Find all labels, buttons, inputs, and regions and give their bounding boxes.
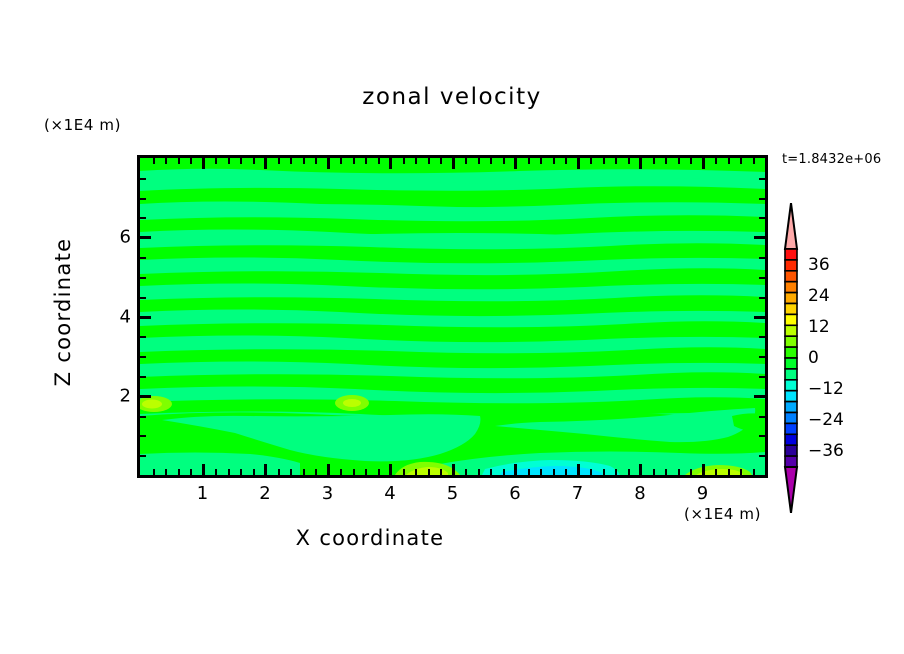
y-axis-tick-labels: 246 bbox=[95, 155, 131, 478]
axis-tick bbox=[327, 158, 330, 169]
axis-tick bbox=[465, 469, 467, 475]
colorbar-band bbox=[785, 456, 797, 467]
axis-tick bbox=[253, 469, 255, 475]
x-tick-label: 9 bbox=[697, 483, 708, 504]
colorbar-tick-label: −24 bbox=[808, 410, 844, 430]
axis-tick bbox=[215, 158, 217, 164]
x-tick-label: 7 bbox=[572, 483, 583, 504]
axis-tick bbox=[759, 376, 765, 378]
axis-tick bbox=[303, 469, 305, 475]
colorbar-band bbox=[785, 369, 797, 380]
axis-tick bbox=[759, 416, 765, 418]
axis-tick bbox=[759, 198, 765, 200]
y-tick-label: 2 bbox=[120, 385, 131, 406]
colorbar-band bbox=[785, 314, 797, 325]
colorbar-band bbox=[785, 391, 797, 402]
axis-tick bbox=[315, 469, 317, 475]
axis-tick bbox=[327, 464, 330, 475]
colorbar-band bbox=[785, 336, 797, 347]
axis-tick bbox=[415, 158, 417, 164]
colorbar-tick-label: 36 bbox=[808, 255, 830, 275]
axis-tick bbox=[140, 356, 146, 358]
axis-tick bbox=[740, 158, 742, 164]
axis-tick bbox=[639, 464, 642, 475]
colorbar-tick-label: 0 bbox=[808, 348, 819, 368]
axis-tick bbox=[603, 158, 605, 164]
axis-tick bbox=[290, 469, 292, 475]
axis-tick bbox=[278, 469, 280, 475]
axis-tick bbox=[490, 469, 492, 475]
axis-tick bbox=[702, 158, 705, 169]
axis-tick bbox=[514, 158, 517, 169]
axis-tick bbox=[759, 356, 765, 358]
y-tick-label: 6 bbox=[120, 227, 131, 248]
colorbar-band bbox=[785, 434, 797, 445]
axis-tick bbox=[240, 158, 242, 164]
colorbar-band bbox=[785, 325, 797, 336]
axis-tick bbox=[228, 158, 230, 164]
x-tick-label: 6 bbox=[509, 483, 520, 504]
axis-tick bbox=[240, 469, 242, 475]
x-tick-label: 3 bbox=[322, 483, 333, 504]
colorbar-tick-label: −12 bbox=[808, 379, 844, 399]
axis-tick bbox=[628, 469, 630, 475]
axis-tick bbox=[478, 469, 480, 475]
axis-tick bbox=[503, 158, 505, 164]
colorbar-tick-labels: 3624120−12−24−36 bbox=[808, 203, 868, 513]
axis-tick bbox=[528, 158, 530, 164]
plot-frame bbox=[137, 155, 768, 478]
axis-tick bbox=[290, 158, 292, 164]
colorbar bbox=[778, 203, 804, 513]
axis-tick bbox=[715, 469, 717, 475]
axis-tick bbox=[315, 158, 317, 164]
y-tick-label: 4 bbox=[120, 306, 131, 327]
axis-tick bbox=[553, 158, 555, 164]
axis-tick bbox=[615, 469, 617, 475]
x-axis-title: X coordinate bbox=[0, 526, 740, 550]
axis-tick bbox=[140, 257, 146, 259]
colorbar-band bbox=[785, 445, 797, 456]
axis-tick bbox=[140, 455, 146, 457]
axis-tick bbox=[577, 158, 580, 169]
y-axis-title: Z coordinate bbox=[51, 212, 75, 412]
x-tick-label: 1 bbox=[197, 483, 208, 504]
x-tick-label: 2 bbox=[259, 483, 270, 504]
timestamp-label: t=1.8432e+06 bbox=[782, 152, 881, 167]
axis-tick bbox=[140, 236, 151, 239]
axis-tick bbox=[628, 158, 630, 164]
colorbar-band bbox=[785, 271, 797, 282]
axis-tick bbox=[403, 469, 405, 475]
axis-tick bbox=[140, 217, 146, 219]
axis-tick bbox=[702, 464, 705, 475]
axis-tick bbox=[365, 469, 367, 475]
axis-tick bbox=[565, 158, 567, 164]
axis-tick bbox=[690, 158, 692, 164]
axis-tick bbox=[440, 158, 442, 164]
axis-tick bbox=[140, 297, 146, 299]
axis-tick bbox=[378, 158, 380, 164]
x-axis-units-label: (×1E4 m) bbox=[684, 505, 761, 523]
axis-tick bbox=[202, 158, 205, 169]
axis-tick bbox=[165, 158, 167, 164]
axis-tick bbox=[678, 158, 680, 164]
axis-tick bbox=[389, 464, 392, 475]
axis-tick bbox=[690, 469, 692, 475]
axis-tick bbox=[754, 236, 765, 239]
axis-tick bbox=[140, 316, 151, 319]
axis-tick bbox=[303, 158, 305, 164]
colorbar-band bbox=[785, 402, 797, 413]
axis-tick bbox=[503, 469, 505, 475]
axis-tick bbox=[140, 178, 146, 180]
axis-tick bbox=[653, 469, 655, 475]
axis-tick bbox=[577, 464, 580, 475]
colorbar-band bbox=[785, 423, 797, 434]
colorbar-band bbox=[785, 304, 797, 315]
axis-tick bbox=[365, 158, 367, 164]
axis-tick bbox=[590, 469, 592, 475]
colorbar-tick-label: 12 bbox=[808, 317, 830, 337]
colorbar-band bbox=[785, 380, 797, 391]
axis-tick bbox=[428, 469, 430, 475]
axis-tick bbox=[759, 257, 765, 259]
axis-tick bbox=[440, 469, 442, 475]
colorbar-band bbox=[785, 358, 797, 369]
axis-tick bbox=[264, 158, 267, 169]
axis-tick bbox=[415, 469, 417, 475]
colorbar-band bbox=[785, 413, 797, 424]
axis-tick bbox=[678, 469, 680, 475]
axis-tick bbox=[665, 469, 667, 475]
figure-root: zonal velocity (×1E4 m) t=1.8432e+06 bbox=[0, 0, 904, 654]
page-title: zonal velocity bbox=[0, 84, 904, 110]
colorbar-band bbox=[785, 249, 797, 260]
x-tick-label: 4 bbox=[384, 483, 395, 504]
axis-tick bbox=[153, 469, 155, 475]
axis-tick bbox=[140, 435, 146, 437]
axis-tick bbox=[253, 158, 255, 164]
axis-tick bbox=[278, 158, 280, 164]
axis-tick bbox=[140, 198, 146, 200]
axis-tick bbox=[140, 277, 146, 279]
axis-tick bbox=[603, 469, 605, 475]
axis-tick bbox=[140, 416, 146, 418]
axis-tick bbox=[759, 217, 765, 219]
axis-tick bbox=[528, 469, 530, 475]
axis-tick bbox=[754, 395, 765, 398]
x-axis-tick-labels: 123456789 bbox=[137, 483, 768, 507]
x-tick-label: 5 bbox=[447, 483, 458, 504]
axis-tick bbox=[153, 158, 155, 164]
axis-tick bbox=[728, 158, 730, 164]
axis-tick bbox=[753, 158, 755, 164]
axis-tick bbox=[728, 469, 730, 475]
axis-tick bbox=[754, 316, 765, 319]
colorbar-band bbox=[785, 282, 797, 293]
axis-tick bbox=[378, 469, 380, 475]
axis-tick bbox=[202, 464, 205, 475]
axis-tick bbox=[340, 469, 342, 475]
axis-tick bbox=[264, 464, 267, 475]
colorbar-under-arrow bbox=[785, 467, 797, 513]
axis-tick bbox=[140, 376, 146, 378]
axis-tick bbox=[340, 158, 342, 164]
axis-tick bbox=[740, 469, 742, 475]
axis-tick bbox=[190, 158, 192, 164]
axis-tick bbox=[759, 455, 765, 457]
colorbar-over-arrow bbox=[785, 203, 797, 249]
axis-tick bbox=[452, 158, 455, 169]
axis-tick bbox=[759, 435, 765, 437]
colorbar-band bbox=[785, 347, 797, 358]
axis-tick bbox=[178, 158, 180, 164]
axis-tick bbox=[565, 469, 567, 475]
axis-tick bbox=[140, 395, 151, 398]
axis-tick bbox=[190, 469, 192, 475]
axis-tick bbox=[215, 469, 217, 475]
axis-tick bbox=[615, 158, 617, 164]
axis-tick bbox=[452, 464, 455, 475]
y-axis-units-label: (×1E4 m) bbox=[44, 116, 121, 134]
axis-tick bbox=[490, 158, 492, 164]
axis-tick bbox=[759, 297, 765, 299]
axis-tick bbox=[540, 158, 542, 164]
axis-tick bbox=[553, 469, 555, 475]
axis-tick bbox=[140, 336, 146, 338]
axis-tick bbox=[478, 158, 480, 164]
axis-tick bbox=[759, 336, 765, 338]
axis-tick bbox=[639, 158, 642, 169]
axis-tick bbox=[759, 178, 765, 180]
axis-tick bbox=[665, 158, 667, 164]
colorbar-svg bbox=[778, 203, 804, 513]
axis-tick bbox=[353, 158, 355, 164]
axis-tick bbox=[753, 469, 755, 475]
axis-tick bbox=[353, 469, 355, 475]
axis-tick bbox=[389, 158, 392, 169]
axis-tick bbox=[715, 158, 717, 164]
axis-tick bbox=[178, 469, 180, 475]
axis-tick bbox=[228, 469, 230, 475]
axis-tick bbox=[653, 158, 655, 164]
plot-area bbox=[137, 155, 768, 478]
axis-tick bbox=[759, 277, 765, 279]
colorbar-band bbox=[785, 260, 797, 271]
axis-tick bbox=[465, 158, 467, 164]
axis-tick bbox=[540, 469, 542, 475]
colorbar-tick-label: −36 bbox=[808, 441, 844, 461]
axis-tick bbox=[514, 464, 517, 475]
axis-tick bbox=[590, 158, 592, 164]
colorbar-band bbox=[785, 293, 797, 304]
colorbar-tick-label: 24 bbox=[808, 286, 830, 306]
axis-tick bbox=[165, 469, 167, 475]
axis-tick bbox=[428, 158, 430, 164]
x-tick-label: 8 bbox=[634, 483, 645, 504]
axis-tick bbox=[403, 158, 405, 164]
